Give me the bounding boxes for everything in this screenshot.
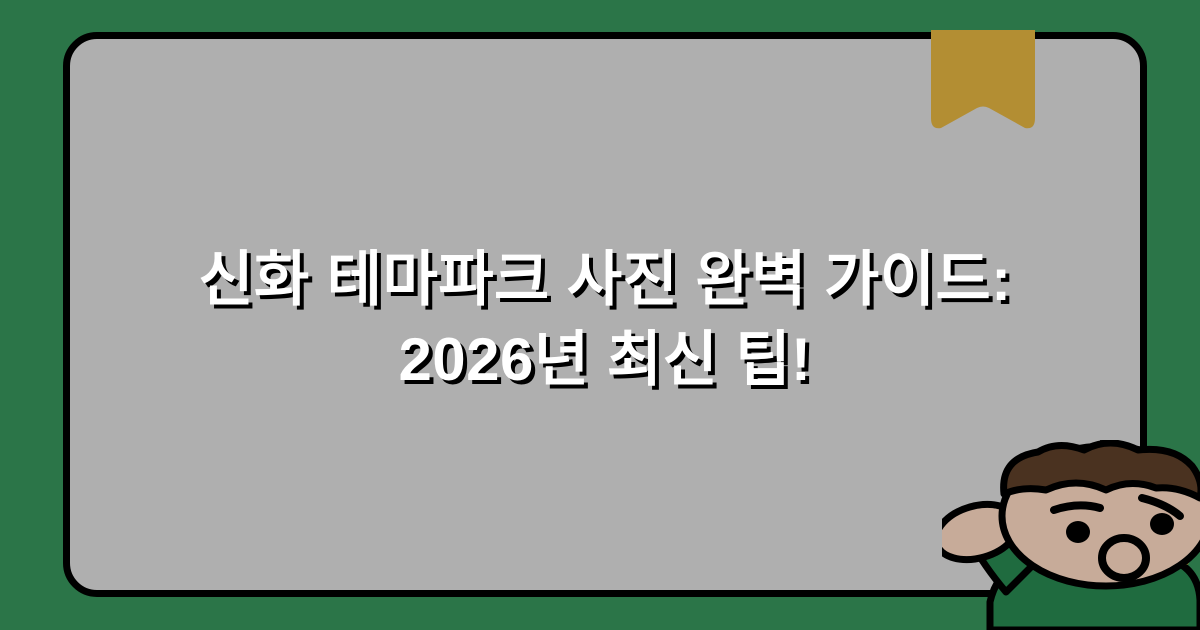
- cartoon-character-icon: [942, 440, 1200, 630]
- thumbnail-canvas: 신화 테마파크 사진 완벽 가이드: 2026년 최신 팁!: [0, 0, 1200, 630]
- bookmark-ribbon-icon: [931, 30, 1035, 130]
- bookmark-ribbon[interactable]: [931, 30, 1035, 130]
- mascot-character: [942, 440, 1200, 630]
